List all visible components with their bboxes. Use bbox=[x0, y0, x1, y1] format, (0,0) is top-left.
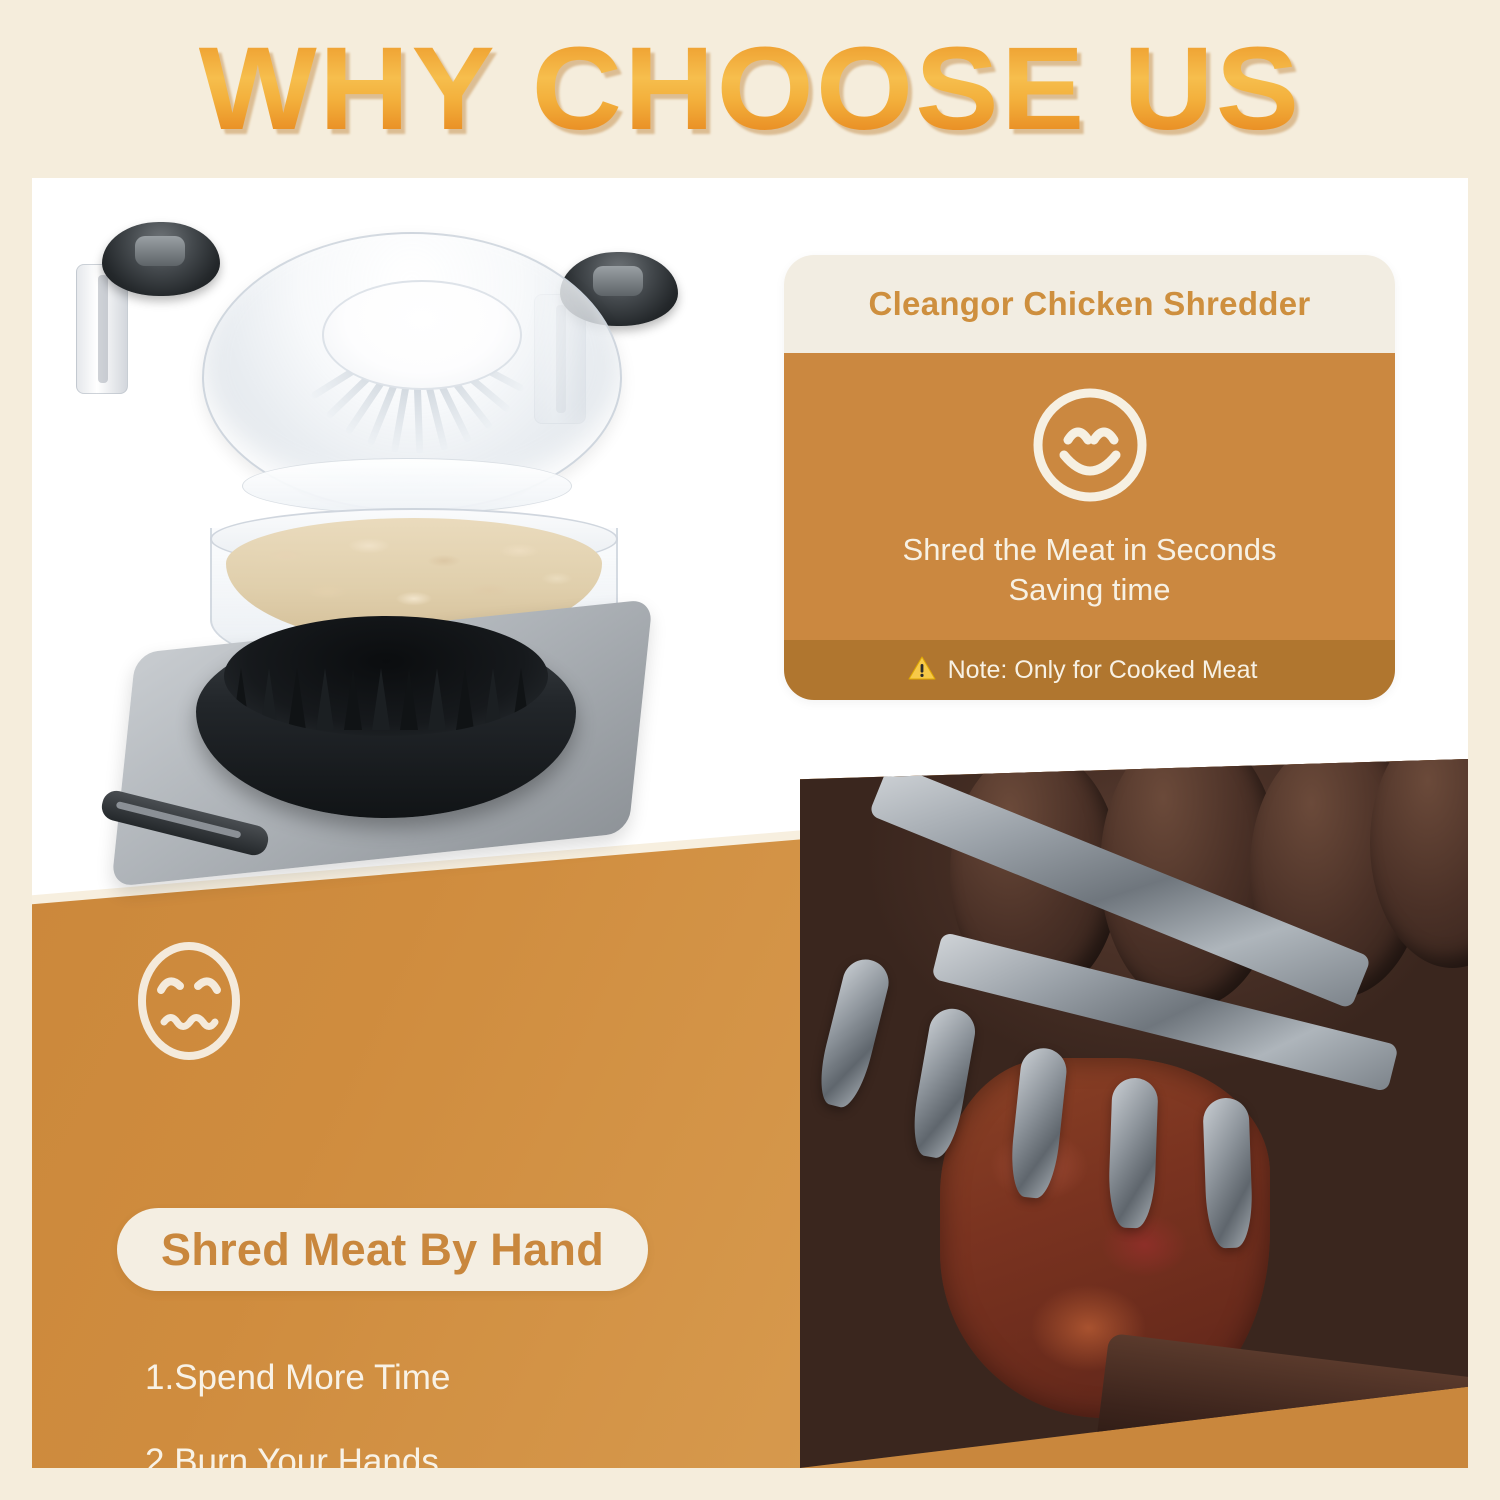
tagline-line-1: Shred the Meat in Seconds bbox=[903, 530, 1277, 570]
dome-skirt bbox=[242, 458, 572, 514]
title-bar: WHY CHOOSE US bbox=[0, 0, 1500, 178]
base-spikes bbox=[224, 616, 548, 736]
list-item: 2.Burn Your Hands bbox=[145, 1442, 785, 1468]
base-spike-bed bbox=[224, 616, 548, 736]
feature-tagline: Shred the Meat in Seconds Saving time bbox=[903, 530, 1277, 609]
content-panel: Cleangor Chicken Shredder Shred the Meat… bbox=[32, 178, 1468, 1468]
list-item: 1.Spend More Time bbox=[145, 1358, 785, 1398]
warning-triangle-icon bbox=[908, 655, 936, 686]
tagline-line-2: Saving time bbox=[903, 570, 1277, 610]
product-photo bbox=[92, 208, 752, 868]
smiley-face-icon bbox=[1028, 383, 1152, 512]
product-name: Cleangor Chicken Shredder bbox=[868, 285, 1310, 323]
drawback-list: 1.Spend More Time 2.Burn Your Hands 3.Ma… bbox=[145, 1358, 785, 1468]
by-hand-heading: Shred Meat By Hand bbox=[161, 1224, 604, 1276]
feature-card-body: Shred the Meat in Seconds Saving time bbox=[784, 353, 1395, 640]
note-label: Note: Only for Cooked Meat bbox=[948, 656, 1258, 685]
by-hand-heading-pill: Shred Meat By Hand bbox=[117, 1208, 648, 1291]
claw-tine bbox=[813, 955, 894, 1112]
claw-tine bbox=[1202, 1097, 1253, 1249]
worried-face-icon bbox=[135, 938, 243, 1069]
feature-card: Cleangor Chicken Shredder Shred the Meat… bbox=[784, 255, 1395, 700]
knife-handle bbox=[1094, 1333, 1468, 1468]
knob-cap bbox=[102, 222, 220, 296]
hand-shredding-photo bbox=[800, 758, 1468, 1468]
feature-card-header: Cleangor Chicken Shredder bbox=[784, 255, 1395, 353]
photo-content bbox=[800, 758, 1468, 1468]
page-title: WHY CHOOSE US bbox=[199, 21, 1301, 157]
feature-card-note: Note: Only for Cooked Meat bbox=[784, 640, 1395, 700]
dome-hub bbox=[322, 280, 522, 390]
